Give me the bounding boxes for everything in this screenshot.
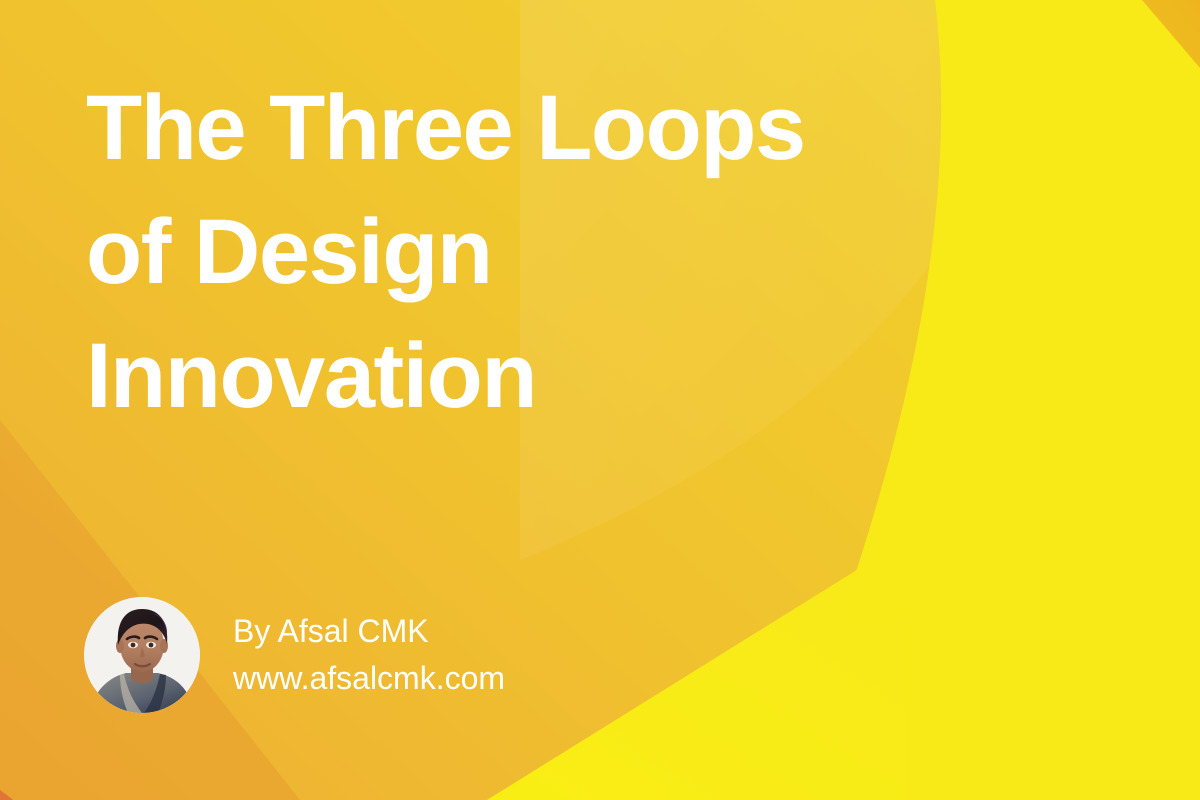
author-website[interactable]: www.afsalcmk.com [233,654,505,702]
avatar [84,597,200,713]
page-title: The Three Loops of Design Innovation [86,66,1086,438]
author-text-block: By Afsal CMK www.afsalcmk.com [233,608,505,702]
title-line-3: Innovation [86,314,1086,438]
title-line-2: of Design [86,190,1086,314]
author-name: By Afsal CMK [233,608,505,654]
cover-content: The Three Loops of Design Innovation [0,0,1200,800]
author-byline: By Afsal CMK www.afsalcmk.com [84,597,505,713]
title-line-1: The Three Loops [86,66,1086,190]
avatar-portrait-image [84,597,200,713]
blog-cover-card: The Three Loops of Design Innovation [0,0,1200,800]
